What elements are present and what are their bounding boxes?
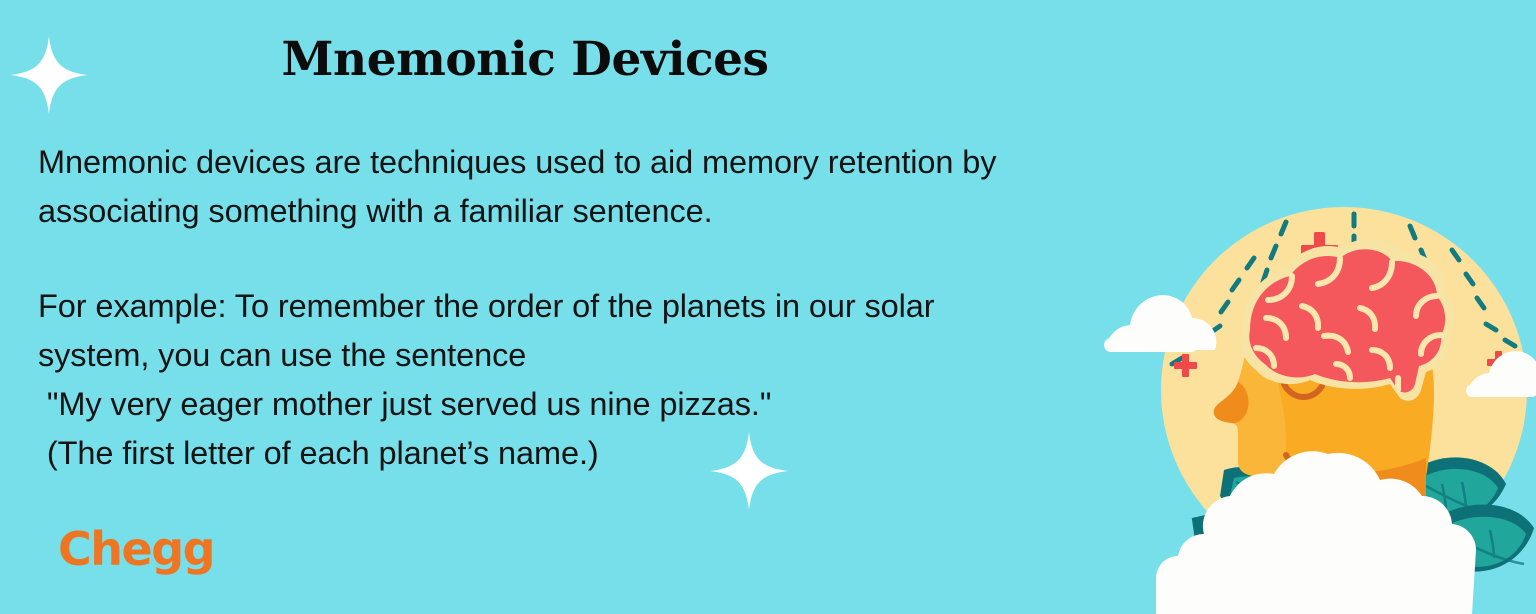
page-title: Mnemonic Devices: [0, 32, 1050, 87]
paragraph-line-mnemonic: "My very eager mother just served us nin…: [38, 380, 1168, 429]
paragraph-definition: Mnemonic devices are techniques used to …: [38, 138, 1168, 236]
paragraph-line: system, you can use the sentence: [38, 331, 1168, 380]
paragraph-line: associating something with a familiar se…: [38, 187, 1168, 236]
illustration-svg: [1096, 178, 1536, 614]
chegg-logo[interactable]: Chegg: [58, 522, 214, 576]
paragraph-line: Mnemonic devices are techniques used to …: [38, 138, 1168, 187]
paragraph-line: For example: To remember the order of th…: [38, 282, 1168, 331]
infographic-card: Mnemonic Devices Mnemonic devices are te…: [0, 0, 1536, 614]
body-copy: Mnemonic devices are techniques used to …: [38, 138, 1168, 478]
paragraph-example: For example: To remember the order of th…: [38, 282, 1168, 478]
paragraph-spacer: [38, 236, 1168, 282]
brain-head-illustration: [1096, 178, 1536, 614]
paragraph-line-note: (The first letter of each planet’s name.…: [38, 429, 1168, 478]
